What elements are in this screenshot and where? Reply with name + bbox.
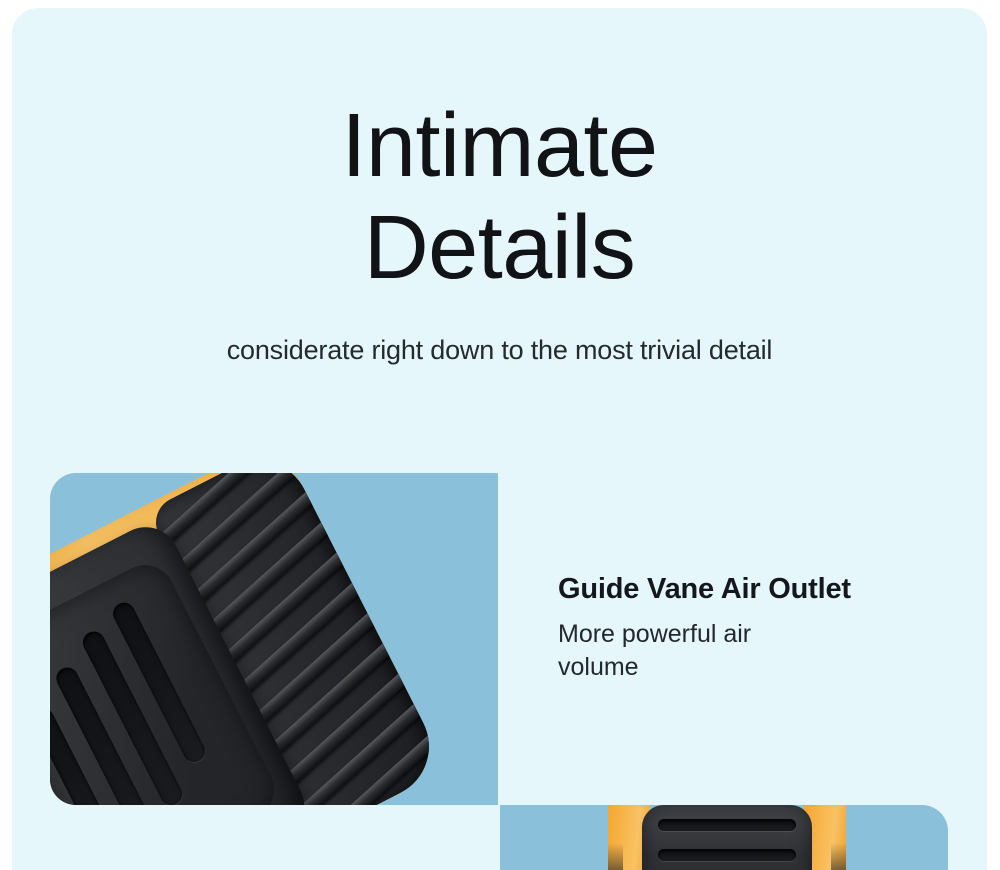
fan-grille-strip-illustration (608, 805, 846, 870)
grille-slot (658, 849, 796, 861)
page-title-line-2: Details (12, 198, 987, 300)
feature-caption: Guide Vane Air Outlet More powerful air … (558, 573, 958, 684)
page-title-line-1: Intimate (12, 96, 987, 198)
page-title: Intimate Details (12, 96, 987, 299)
page-subtitle: considerate right down to the most trivi… (12, 335, 987, 366)
product-photo-primary (50, 473, 498, 805)
product-photo-secondary (500, 805, 948, 870)
page-root: Intimate Details considerate right down … (0, 0, 1000, 870)
grille-slot (658, 819, 796, 831)
fan-grille-core (642, 805, 812, 870)
feature-description: More powerful air volume (558, 618, 836, 684)
intimate-details-panel: Intimate Details considerate right down … (12, 8, 987, 870)
feature-title: Guide Vane Air Outlet (558, 573, 958, 606)
fan-unit-illustration (50, 473, 497, 805)
